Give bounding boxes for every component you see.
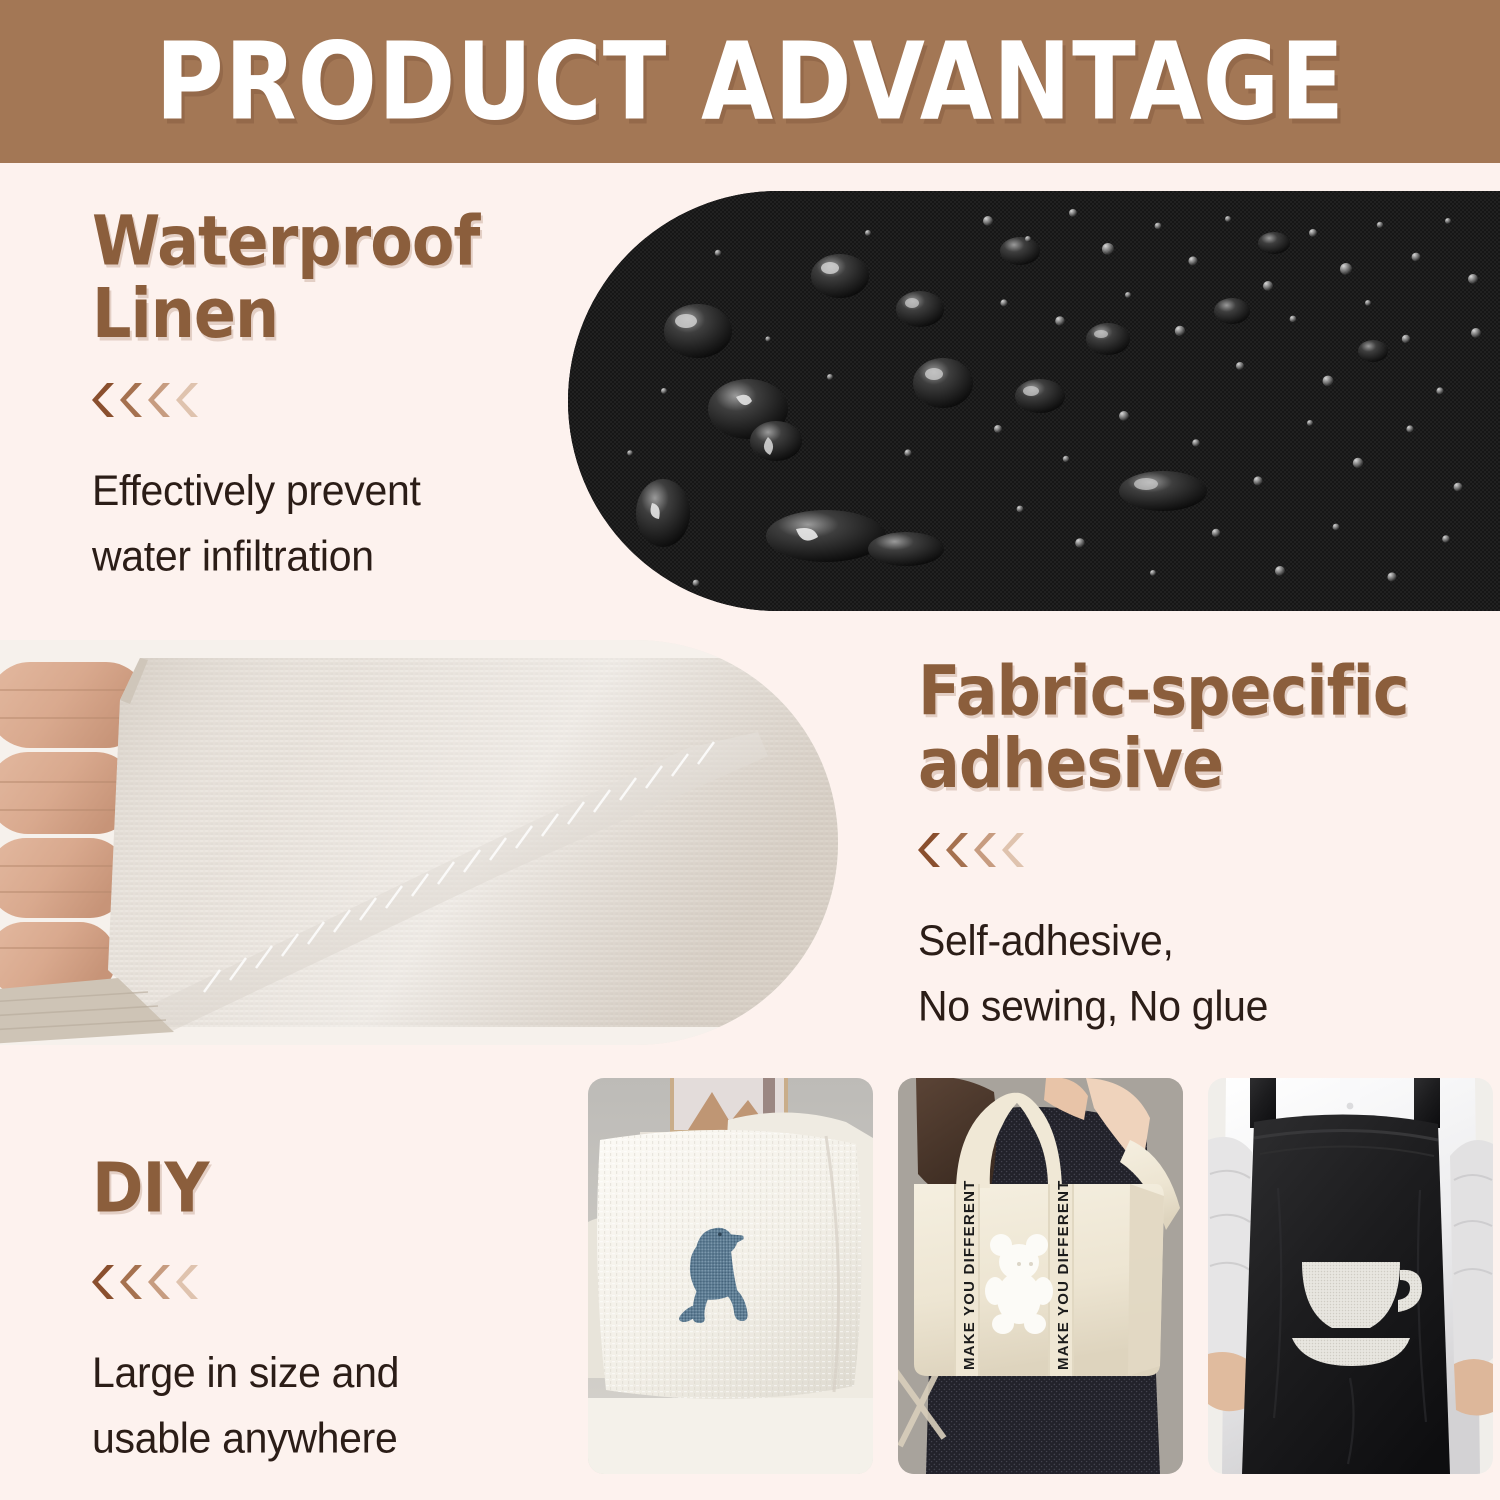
gallery-photo-tote-bag: MAKE YOU DIFFERENT MAKE YOU DIFFERENT <box>898 1078 1183 1474</box>
feature-heading-diy: DIY <box>92 1152 542 1224</box>
chevron-left-icon <box>176 1264 202 1300</box>
feature-desc-line-2: water infiltration <box>92 524 562 589</box>
gallery-photo-cushion <box>588 1078 873 1474</box>
chevron-divider-adhesive <box>918 832 1478 868</box>
chevron-left-icon <box>148 382 174 418</box>
bear-silhouette-patch <box>985 1234 1053 1334</box>
feature-desc-line-1: Effectively prevent <box>92 458 562 523</box>
feature-heading-line-1: Fabric-specific <box>918 655 1478 727</box>
tote-bag-illustration: MAKE YOU DIFFERENT MAKE YOU DIFFERENT <box>898 1078 1183 1474</box>
feature-description-waterproof: Effectively prevent water infiltration <box>92 458 562 589</box>
chevron-left-icon <box>120 382 146 418</box>
product-advantage-banner: PRODUCT ADVANTAGE <box>0 0 1500 163</box>
water-droplet-illustration <box>568 191 1500 611</box>
chevron-left-icon <box>918 832 944 868</box>
chevron-left-icon <box>148 1264 174 1300</box>
chevron-left-icon <box>974 832 1000 868</box>
feature-desc-line-2: No sewing, No glue <box>918 974 1478 1039</box>
feature-description-diy: Large in size and usable anywhere <box>92 1340 542 1471</box>
strap-text-right: MAKE YOU DIFFERENT <box>1055 1180 1072 1371</box>
feature-description-adhesive: Self-adhesive, No sewing, No glue <box>918 908 1478 1039</box>
feature-block-waterproof-linen: Waterproof Linen Effectively prevent wat… <box>92 205 562 583</box>
strap-text-left: MAKE YOU DIFFERENT <box>961 1180 978 1371</box>
feature-heading-line-1: Waterproof <box>92 205 562 277</box>
chevron-divider-waterproof <box>92 382 562 418</box>
feature-block-fabric-adhesive: Fabric-specific adhesive Self-adhesive, … <box>918 655 1478 1033</box>
chevron-left-icon <box>92 1264 118 1300</box>
waterproof-fabric-photo <box>568 191 1500 611</box>
feature-desc-line-1: Self-adhesive, <box>918 908 1478 973</box>
chevron-left-icon <box>120 1264 146 1300</box>
linen-fabric-photo <box>0 640 838 1045</box>
feature-heading-line-2: adhesive <box>918 727 1478 799</box>
feature-heading-adhesive: Fabric-specific adhesive <box>918 655 1478 800</box>
linen-swatch-illustration <box>0 640 838 1045</box>
feature-desc-line-2: usable anywhere <box>92 1405 542 1470</box>
feature-desc-line-1: Large in size and <box>92 1340 542 1405</box>
gallery-photo-apron <box>1208 1078 1493 1474</box>
feature-heading-waterproof: Waterproof Linen <box>92 205 562 350</box>
chevron-left-icon <box>1002 832 1028 868</box>
cushion-illustration <box>588 1078 873 1474</box>
chevron-left-icon <box>176 382 202 418</box>
feature-heading-line-2: Linen <box>92 277 562 349</box>
feature-heading-line-1: DIY <box>92 1152 542 1224</box>
feature-block-diy: DIY Large in size and usable anywhere <box>92 1152 542 1464</box>
page-title: PRODUCT ADVANTAGE <box>155 19 1345 145</box>
apron-illustration <box>1208 1078 1493 1474</box>
chevron-divider-diy <box>92 1264 542 1300</box>
chevron-left-icon <box>92 382 118 418</box>
chevron-left-icon <box>946 832 972 868</box>
